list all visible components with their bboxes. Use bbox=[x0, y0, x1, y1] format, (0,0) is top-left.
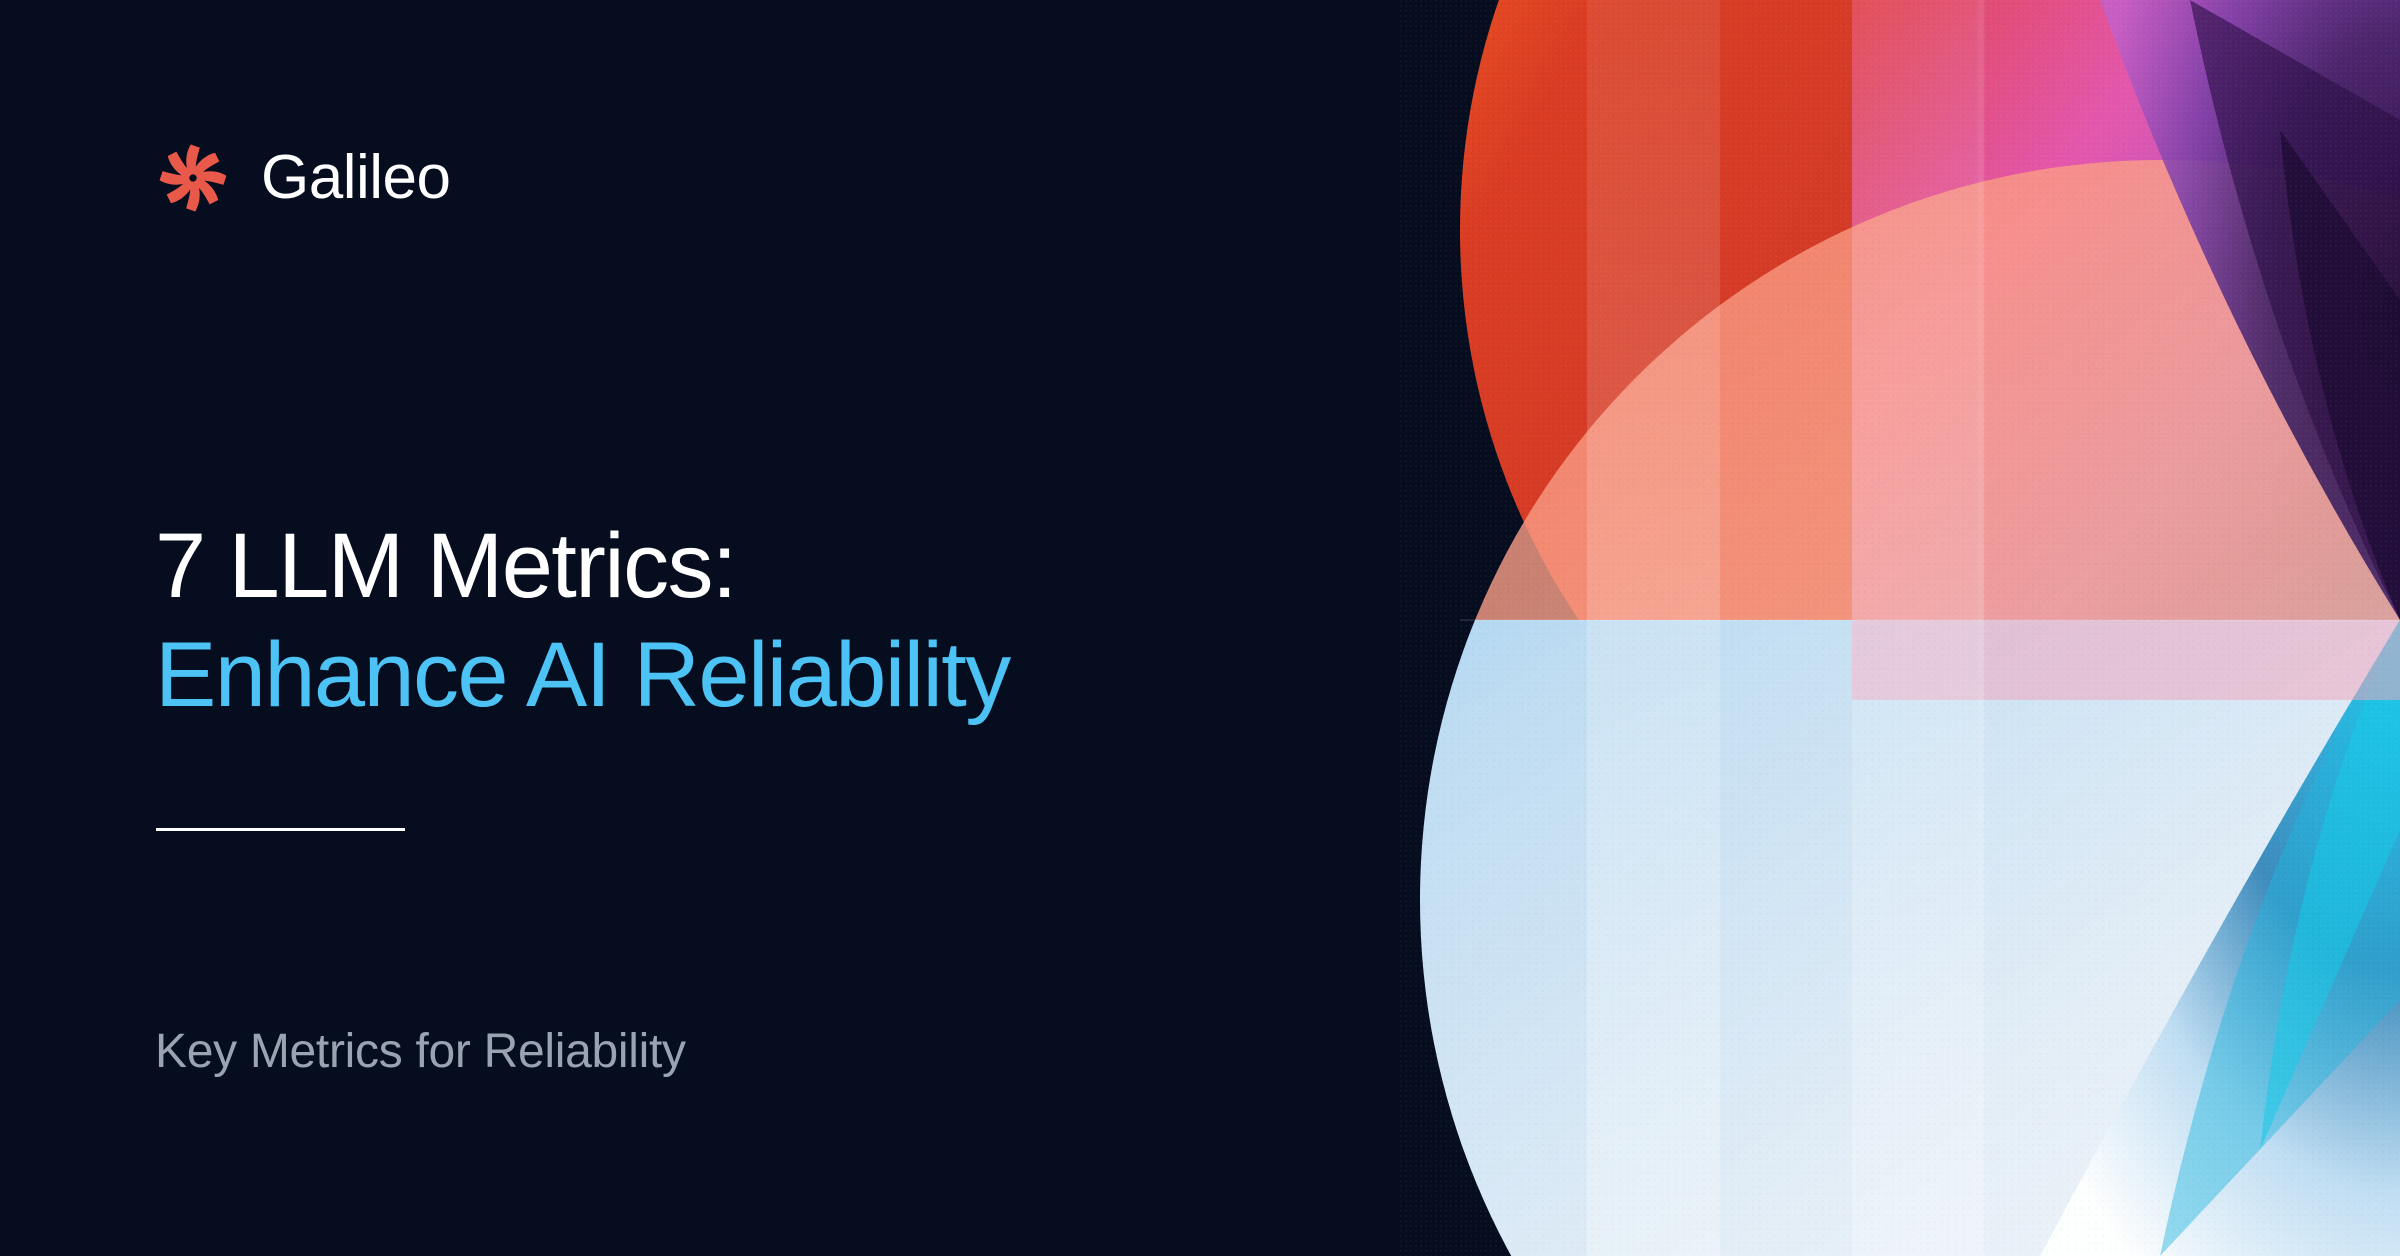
brand-logo[interactable]: Galileo bbox=[155, 140, 451, 216]
content-column: Galileo 7 LLM Metrics: Enhance AI Reliab… bbox=[0, 0, 1770, 1256]
slide-canvas: Galileo 7 LLM Metrics: Enhance AI Reliab… bbox=[0, 0, 2400, 1256]
page-title: 7 LLM Metrics: Enhance AI Reliability bbox=[155, 512, 1655, 729]
subtitle-text: Key Metrics for Reliability bbox=[155, 1024, 686, 1079]
title-divider bbox=[156, 828, 405, 831]
title-line-1: 7 LLM Metrics: bbox=[155, 512, 1655, 621]
title-line-2: Enhance AI Reliability bbox=[155, 621, 1655, 730]
galileo-starburst-icon bbox=[155, 140, 231, 216]
brand-wordmark: Galileo bbox=[261, 147, 451, 209]
